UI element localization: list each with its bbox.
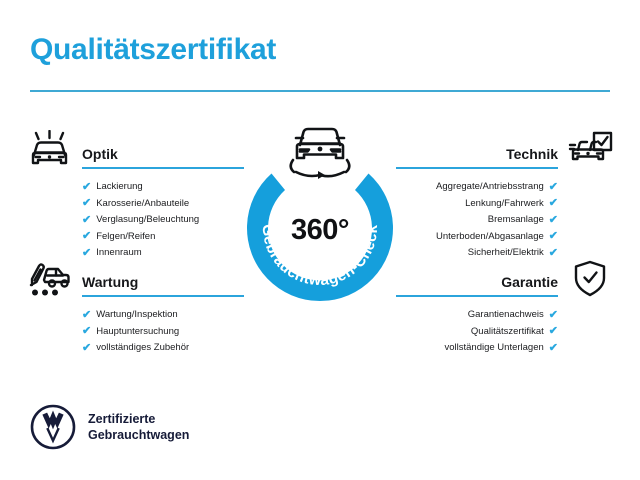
car-headlights-icon bbox=[26, 130, 74, 172]
badge-value: 360° bbox=[236, 214, 404, 247]
section-garantie-divider bbox=[396, 295, 558, 297]
list-item: Aggregate/Antriebsstrang ✔ bbox=[384, 179, 558, 196]
check-icon: ✔ bbox=[549, 326, 558, 337]
list-item: ✔ Lackierung bbox=[82, 179, 256, 196]
list-item-label: Hauptuntersuchung bbox=[96, 324, 179, 341]
check-icon: ✔ bbox=[549, 198, 558, 209]
quality-certificate-page: Qualitätszertifikat Op bbox=[0, 0, 640, 480]
list-item: ✔ Wartung/Inspektion bbox=[82, 307, 256, 324]
list-item: ✔ Hauptuntersuchung bbox=[82, 324, 256, 341]
badge-360-gebrauchtwagen-check: Gebrauchtwagen-Check bbox=[236, 118, 404, 314]
check-icon: ✔ bbox=[82, 231, 91, 242]
list-item-label: Garantienachweis bbox=[468, 307, 544, 324]
car-checklist-icon bbox=[566, 130, 614, 172]
list-item: ✔ vollständiges Zubehör bbox=[82, 340, 256, 357]
list-item-label: Karosserie/Anbauteile bbox=[96, 196, 189, 213]
section-wartung-divider bbox=[82, 295, 244, 297]
list-item-label: Lackierung bbox=[96, 179, 142, 196]
list-item-label: vollständige Unterlagen bbox=[444, 340, 543, 357]
footer-brand-text: Zertifizierte Gebrauchtwagen bbox=[88, 411, 189, 443]
list-item: vollständige Unterlagen ✔ bbox=[384, 340, 558, 357]
list-item-label: Verglasung/Beleuchtung bbox=[96, 212, 199, 229]
list-item-label: Qualitätszertifikat bbox=[471, 324, 544, 341]
list-item-label: Lenkung/Fahrwerk bbox=[465, 196, 544, 213]
section-technik-body: Technik Aggregate/Antriebsstrang ✔ Lenku… bbox=[384, 130, 558, 262]
shield-check-icon bbox=[566, 258, 614, 300]
section-technik-list: Aggregate/Antriebsstrang ✔ Lenkung/Fahrw… bbox=[384, 179, 558, 262]
check-icon: ✔ bbox=[82, 198, 91, 209]
section-optik-list: ✔ Lackierung ✔ Karosserie/Anbauteile ✔ V… bbox=[82, 179, 256, 262]
section-technik-divider bbox=[396, 167, 558, 169]
section-optik-body: Optik ✔ Lackierung ✔ Karosserie/Anbautei… bbox=[82, 130, 256, 262]
check-icon: ✔ bbox=[82, 343, 91, 354]
section-optik-heading: Optik bbox=[82, 146, 256, 162]
section-garantie-list: Garantienachweis ✔ Qualitätszertifikat ✔… bbox=[384, 307, 558, 357]
list-item: Qualitätszertifikat ✔ bbox=[384, 324, 558, 341]
list-item: ✔ Karosserie/Anbauteile bbox=[82, 196, 256, 213]
list-item-label: Aggregate/Antriebsstrang bbox=[436, 179, 544, 196]
check-icon: ✔ bbox=[82, 182, 91, 193]
list-item-label: vollständiges Zubehör bbox=[96, 340, 189, 357]
section-optik-divider bbox=[82, 167, 244, 169]
list-item: ✔ Verglasung/Beleuchtung bbox=[82, 212, 256, 229]
list-item-label: Bremsanlage bbox=[488, 212, 544, 229]
list-item-label: Wartung/Inspektion bbox=[96, 307, 178, 324]
check-icon: ✔ bbox=[82, 326, 91, 337]
car-front-rotation-icon bbox=[278, 118, 362, 182]
check-icon: ✔ bbox=[82, 215, 91, 226]
list-item: ✔ Felgen/Reifen bbox=[82, 229, 256, 246]
car-service-wrench-icon bbox=[26, 258, 74, 300]
check-icon: ✔ bbox=[549, 182, 558, 193]
list-item-label: Felgen/Reifen bbox=[96, 229, 155, 246]
section-garantie-heading: Garantie bbox=[384, 274, 558, 290]
section-technik-heading: Technik bbox=[384, 146, 558, 162]
footer-line-1: Zertifizierte bbox=[88, 411, 189, 427]
footer-brand: Zertifizierte Gebrauchtwagen bbox=[30, 404, 189, 450]
section-garantie-body: Garantie Garantienachweis ✔ Qualitätszer… bbox=[384, 258, 558, 357]
section-wartung-list: ✔ Wartung/Inspektion ✔ Hauptuntersuchung… bbox=[82, 307, 256, 357]
list-item: Unterboden/Abgasanlage ✔ bbox=[384, 229, 558, 246]
footer-line-2: Gebrauchtwagen bbox=[88, 427, 189, 443]
check-icon: ✔ bbox=[549, 215, 558, 226]
list-item: Bremsanlage ✔ bbox=[384, 212, 558, 229]
check-icon: ✔ bbox=[549, 231, 558, 242]
page-title: Qualitätszertifikat bbox=[30, 33, 276, 67]
check-icon: ✔ bbox=[549, 310, 558, 321]
header-divider bbox=[30, 90, 610, 92]
list-item: Lenkung/Fahrwerk ✔ bbox=[384, 196, 558, 213]
check-icon: ✔ bbox=[549, 343, 558, 354]
section-wartung-heading: Wartung bbox=[82, 274, 256, 290]
list-item: Garantienachweis ✔ bbox=[384, 307, 558, 324]
volkswagen-logo bbox=[30, 404, 76, 450]
check-icon: ✔ bbox=[82, 310, 91, 321]
list-item-label: Unterboden/Abgasanlage bbox=[436, 229, 544, 246]
section-wartung-body: Wartung ✔ Wartung/Inspektion ✔ Hauptunte… bbox=[82, 258, 256, 357]
